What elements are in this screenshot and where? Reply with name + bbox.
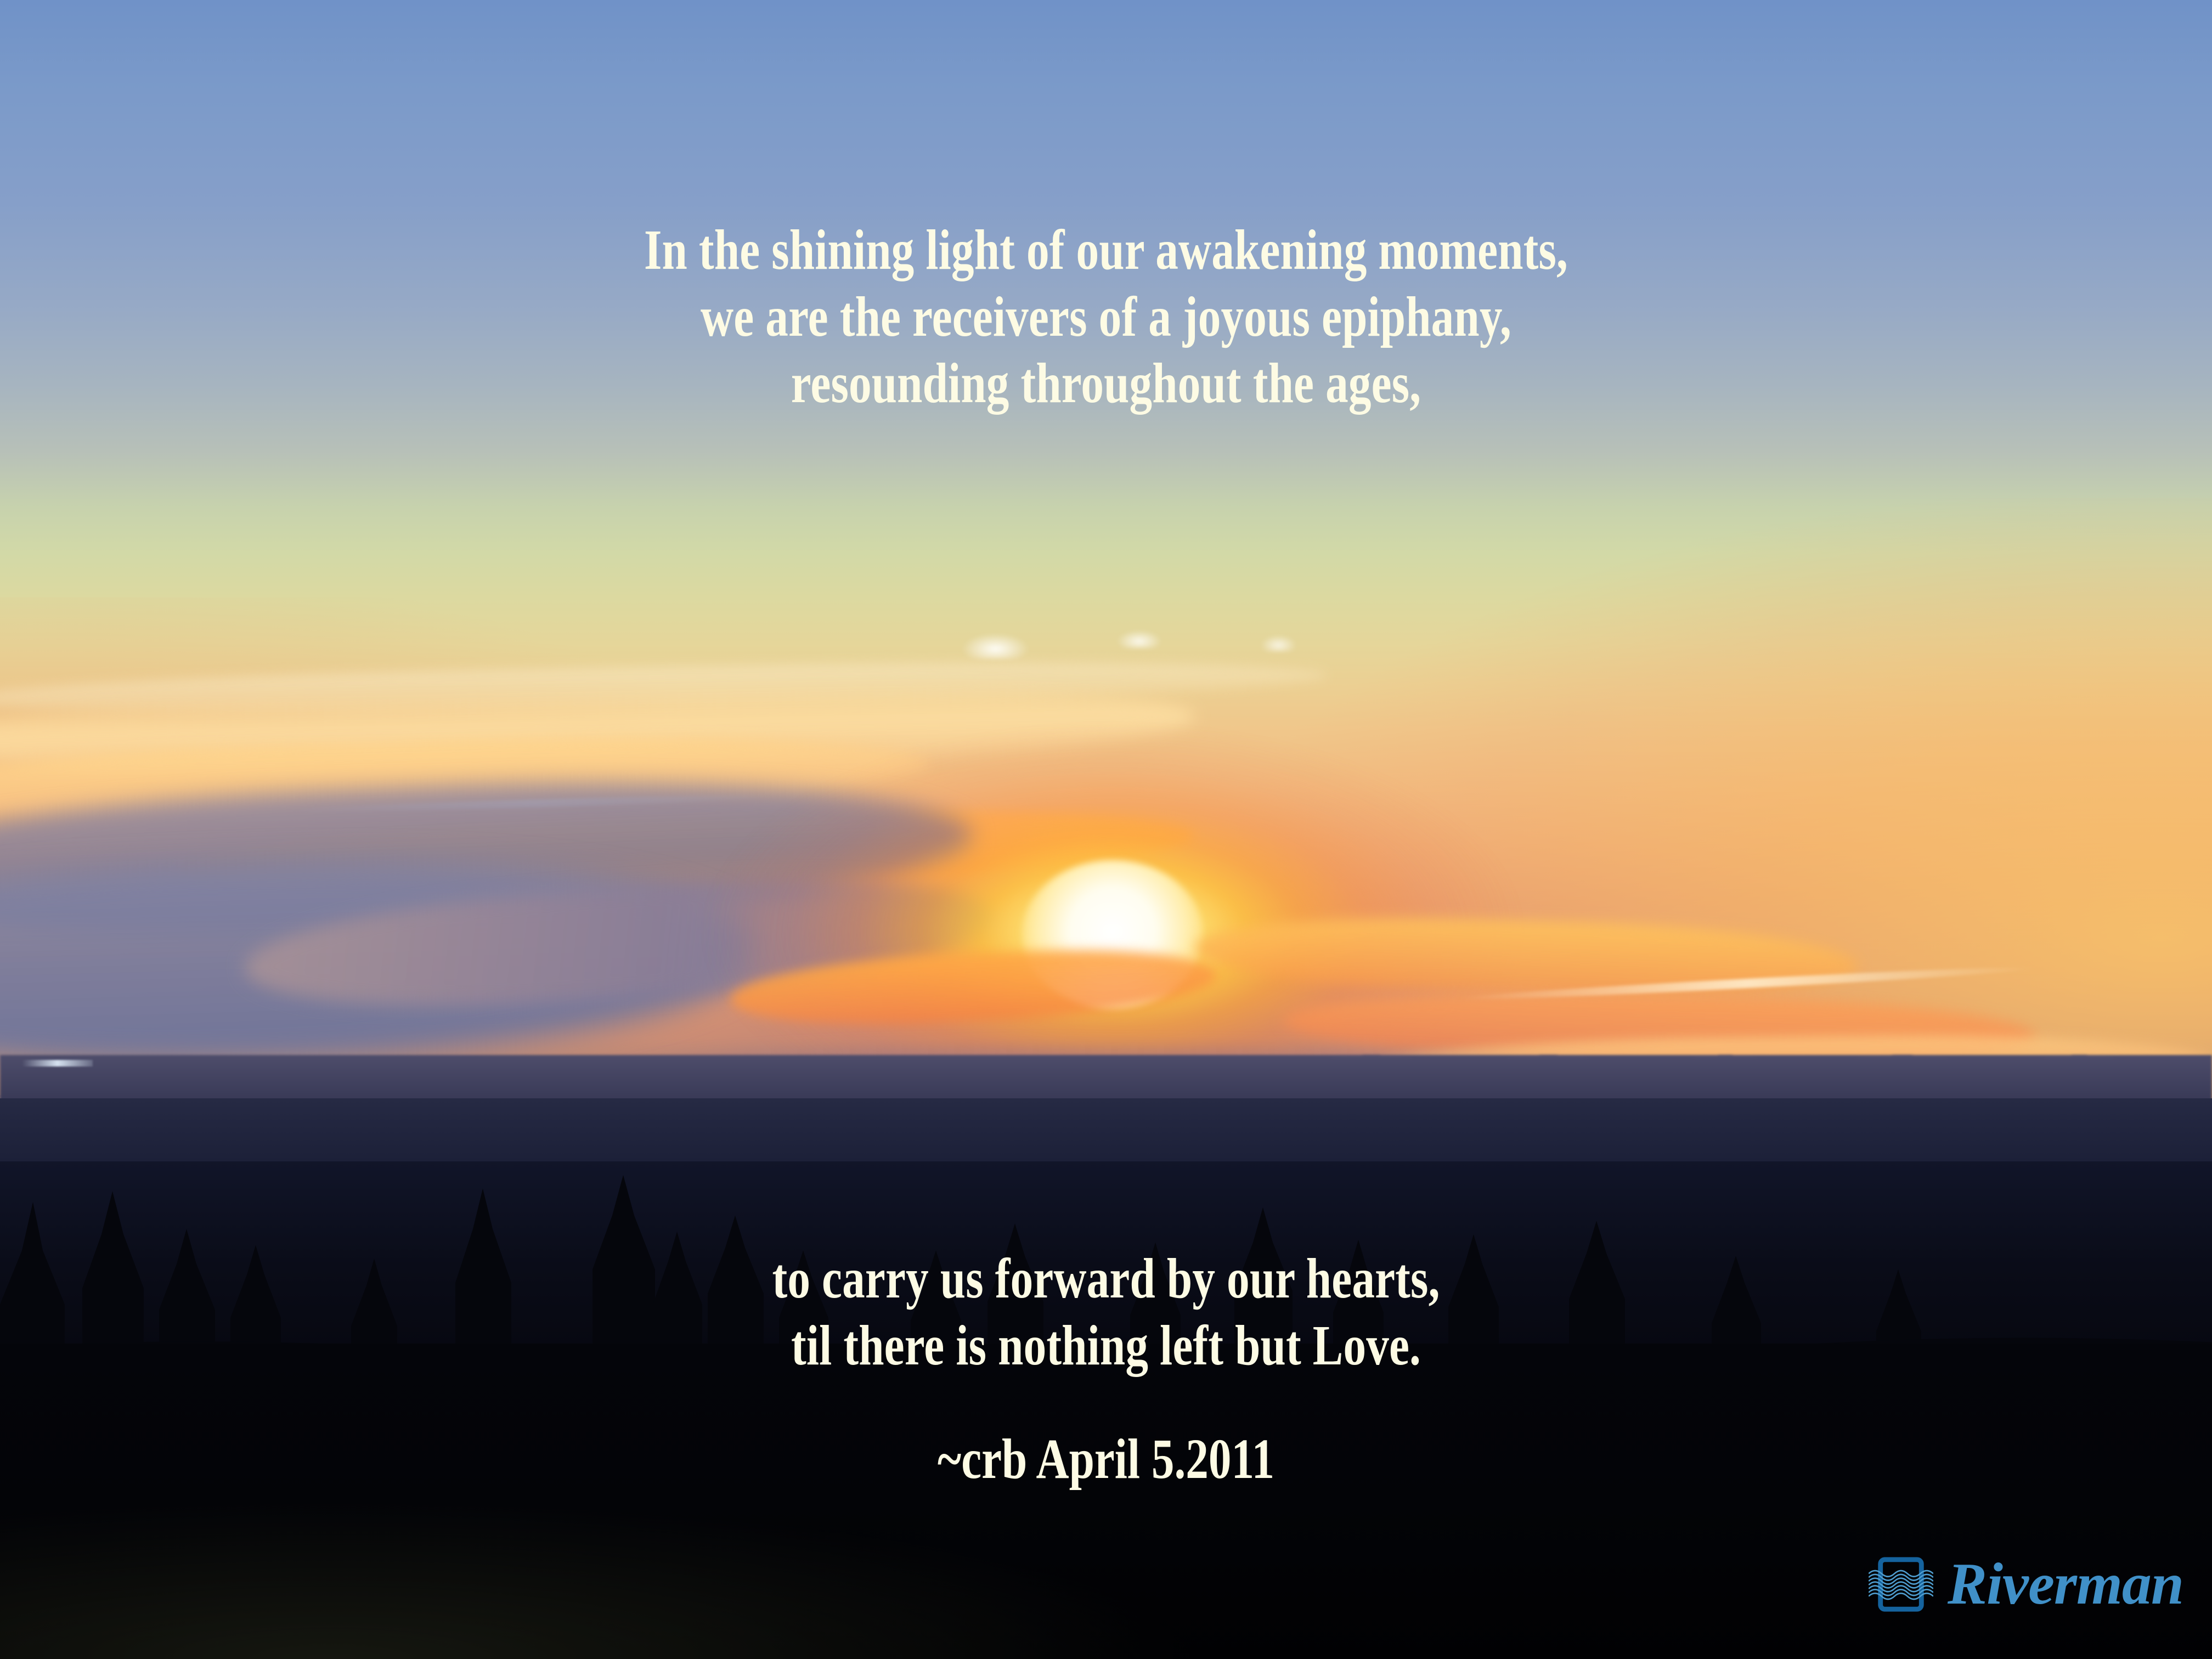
riverman-watermark[interactable]: Riverman <box>1869 1555 2183 1614</box>
sun-disc <box>1022 860 1203 1008</box>
quote-line: we are the receivers of a joyous epiphan… <box>221 284 1991 351</box>
river-wave-icon <box>1869 1555 1933 1613</box>
quote-line: til there is nothing left but Love. <box>221 1312 1991 1379</box>
distant-light-glint <box>22 1060 93 1066</box>
quote-line: to carry us forward by our hearts, <box>221 1245 1991 1312</box>
foreground-grass <box>0 1476 1327 1659</box>
quote-line: resounding throughout the ages, <box>221 350 1991 417</box>
quote-line: In the shining light of our awakening mo… <box>221 217 1991 284</box>
quote-image-canvas: In the shining light of our awakening mo… <box>0 0 2212 1659</box>
quote-top-block: In the shining light of our awakening mo… <box>221 217 1991 417</box>
quote-attribution: ~crb April 5.2011 <box>221 1426 1991 1492</box>
quote-bottom-block: to carry us forward by our hearts, til t… <box>221 1245 1991 1379</box>
riverman-wordmark: Riverman <box>1948 1555 2183 1614</box>
